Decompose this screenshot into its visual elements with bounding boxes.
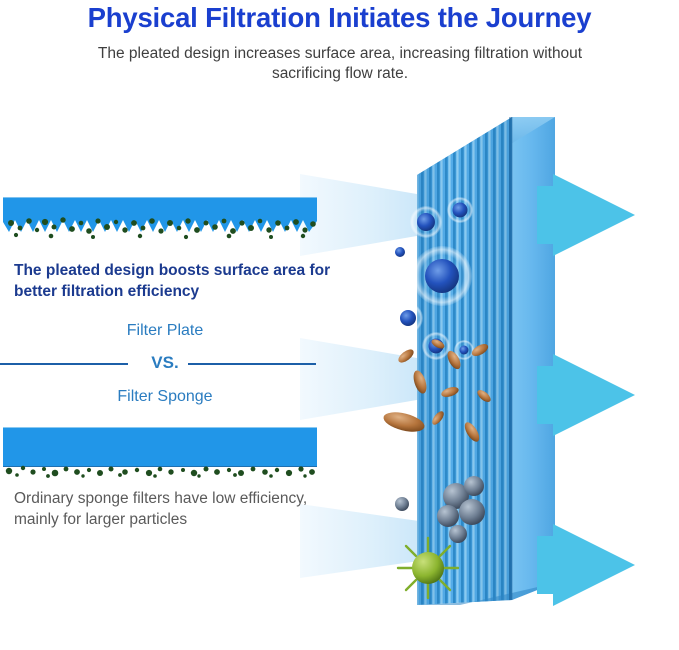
filter-sponge-sample: [3, 427, 317, 479]
outflow-arrow-top: [537, 174, 635, 256]
bubble-cluster-top: [392, 197, 474, 360]
subtitle-text: The pleated design increases surface are…: [90, 44, 590, 84]
outflow-arrow-middle: [537, 354, 635, 436]
comparison-label-top: Filter Plate: [0, 322, 330, 340]
infographic-canvas: Physical Filtration Initiates the Journe…: [0, 0, 679, 650]
comparison-label-bottom: Filter Sponge: [0, 388, 330, 406]
cell-cluster: [395, 476, 485, 543]
clean-water-outflow-arrows: [535, 170, 679, 610]
page-title: Physical Filtration Initiates the Journe…: [0, 2, 679, 34]
filter-sponge-body: [3, 427, 317, 467]
filter-plate-body: [3, 197, 317, 220]
filter-sponge-caption: Ordinary sponge filters have low efficie…: [14, 488, 334, 530]
filter-plate-sample: [3, 197, 317, 243]
virus-particle: [398, 538, 458, 598]
filter-plate-caption: The pleated design boosts surface area f…: [14, 260, 334, 302]
filter-plate-pleat-teeth: [3, 218, 317, 234]
pleat-zigzag: [3, 218, 317, 232]
comparison-rule-right: [188, 363, 316, 365]
comparison-block: Filter Plate VS. Filter Sponge: [0, 322, 330, 410]
outflow-arrow-bottom: [537, 524, 635, 606]
